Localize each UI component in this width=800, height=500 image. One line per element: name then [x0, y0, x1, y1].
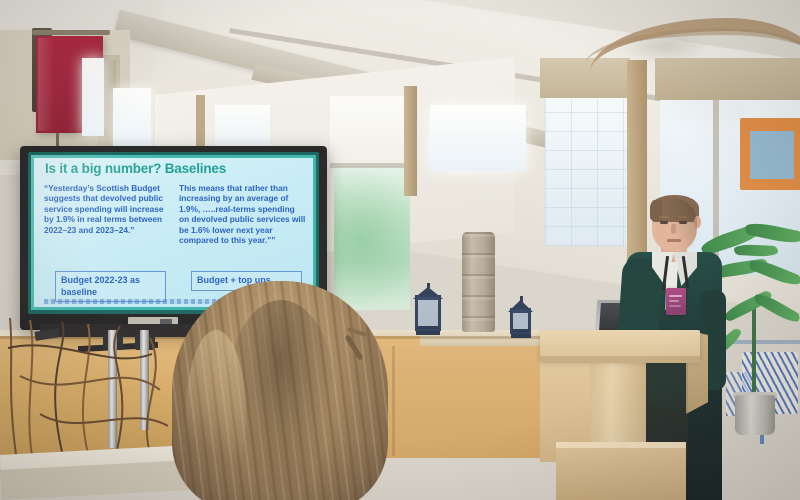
exterior-tile-wall [545, 96, 627, 246]
lantern-base [416, 331, 440, 335]
exterior-building-white [660, 100, 744, 122]
lantern-base [511, 334, 531, 338]
vase-ribbing [462, 232, 495, 332]
plant-stem [752, 300, 756, 400]
banner-highlight [38, 38, 54, 131]
lantern-glass [418, 300, 438, 326]
window-mullion-center [404, 86, 417, 196]
window-pane-d [430, 105, 526, 171]
lantern-small [508, 296, 533, 334]
audience-hair-highlight [186, 330, 246, 500]
badge-text-line [669, 305, 681, 307]
conference-badge [666, 288, 686, 315]
banner-rod [32, 30, 110, 35]
cabinet-seam-2 [392, 346, 395, 456]
lectern-top-edge [540, 356, 700, 363]
center-window-foliage [334, 150, 410, 310]
badge-text-line [669, 295, 682, 297]
window-pane-b [113, 88, 151, 148]
exterior-building-window [750, 131, 794, 179]
plant-pot [735, 395, 775, 435]
lectern-base [556, 442, 686, 500]
badge-text-line [669, 300, 679, 302]
palm-frond [734, 244, 779, 257]
lectern-base-edge [556, 442, 686, 448]
lantern-glass [513, 313, 528, 329]
speaker-face-shading [652, 199, 697, 251]
presentation-photo: Is it a big number? Baselines “Yesterday… [0, 0, 800, 500]
lantern-large [413, 283, 443, 331]
window-pane-a [82, 58, 104, 136]
